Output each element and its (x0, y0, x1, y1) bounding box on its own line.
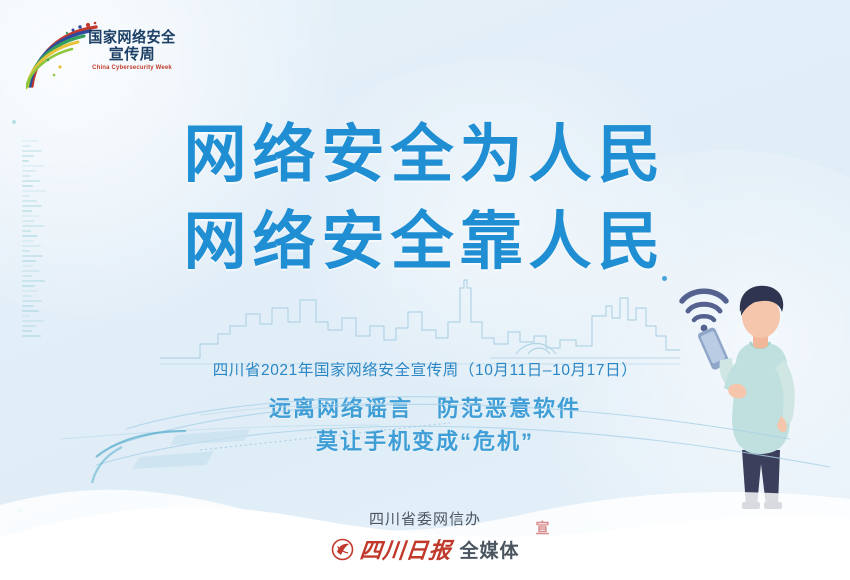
credit-media-suffix: 全媒体 (459, 536, 519, 563)
headline-line-1: 网络安全为人民 (0, 112, 850, 199)
logo-line-2: 宣传周 (82, 46, 182, 63)
newspaper-seal-icon (331, 538, 354, 561)
footer-credits: 四川省委网信办 四川日报 全媒体 宣 (0, 508, 850, 565)
credit-stamp-character: 宣 (535, 518, 549, 538)
credit-newspaper-name: 四川日报 (358, 533, 453, 565)
wifi-icon (682, 291, 726, 331)
credit-media-row: 四川日报 全媒体 宣 (331, 533, 520, 565)
logo-line-1: 国家网络安全 (85, 30, 179, 46)
city-skyline-outline (160, 278, 680, 370)
china-cybersecurity-week-logo: 国家网络安全 宣传周 China Cybersecurity Week (26, 20, 182, 92)
poster-canvas: 国家网络安全 宣传周 China Cybersecurity Week 网络安全… (0, 0, 850, 580)
credit-organization: 四川省委网信办 (0, 508, 850, 529)
logo-english-text: China Cybersecurity Week (86, 64, 178, 71)
page-title: 网络安全为人民 网络安全靠人民 (0, 112, 850, 286)
